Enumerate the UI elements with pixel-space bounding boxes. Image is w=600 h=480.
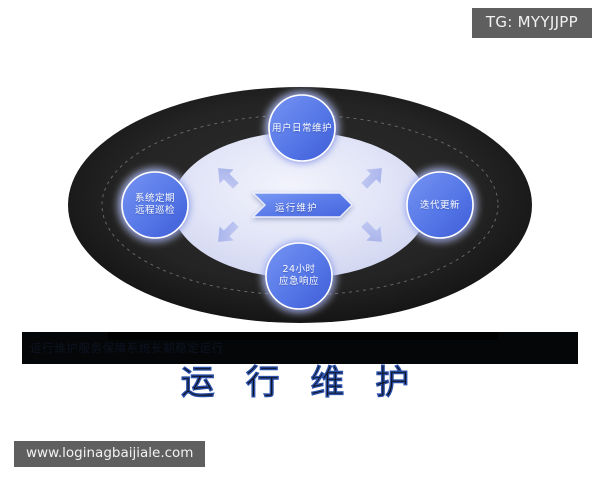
diagram-stage: 用户日常维护 系统定期 远程巡检 迭代更新 24小时 应急响应 运行维护 — [0, 0, 600, 480]
site-watermark-badge: www.loginagbaijiale.com — [14, 441, 205, 468]
node-bottom[interactable] — [266, 243, 332, 309]
center-node[interactable] — [253, 193, 352, 217]
node-top[interactable] — [269, 95, 335, 161]
node-left[interactable] — [122, 172, 188, 238]
caption-band-top-strip — [108, 332, 498, 340]
telegram-badge: TG: MYYJJPP — [472, 8, 592, 38]
diagram-svg — [0, 0, 600, 480]
caption-band: 运行维护服务保障系统长期稳定运行 — [22, 332, 578, 364]
page-title: 运 行 维 护 — [0, 366, 600, 400]
caption-band-text: 运行维护服务保障系统长期稳定运行 — [30, 341, 570, 356]
node-right[interactable] — [407, 172, 473, 238]
